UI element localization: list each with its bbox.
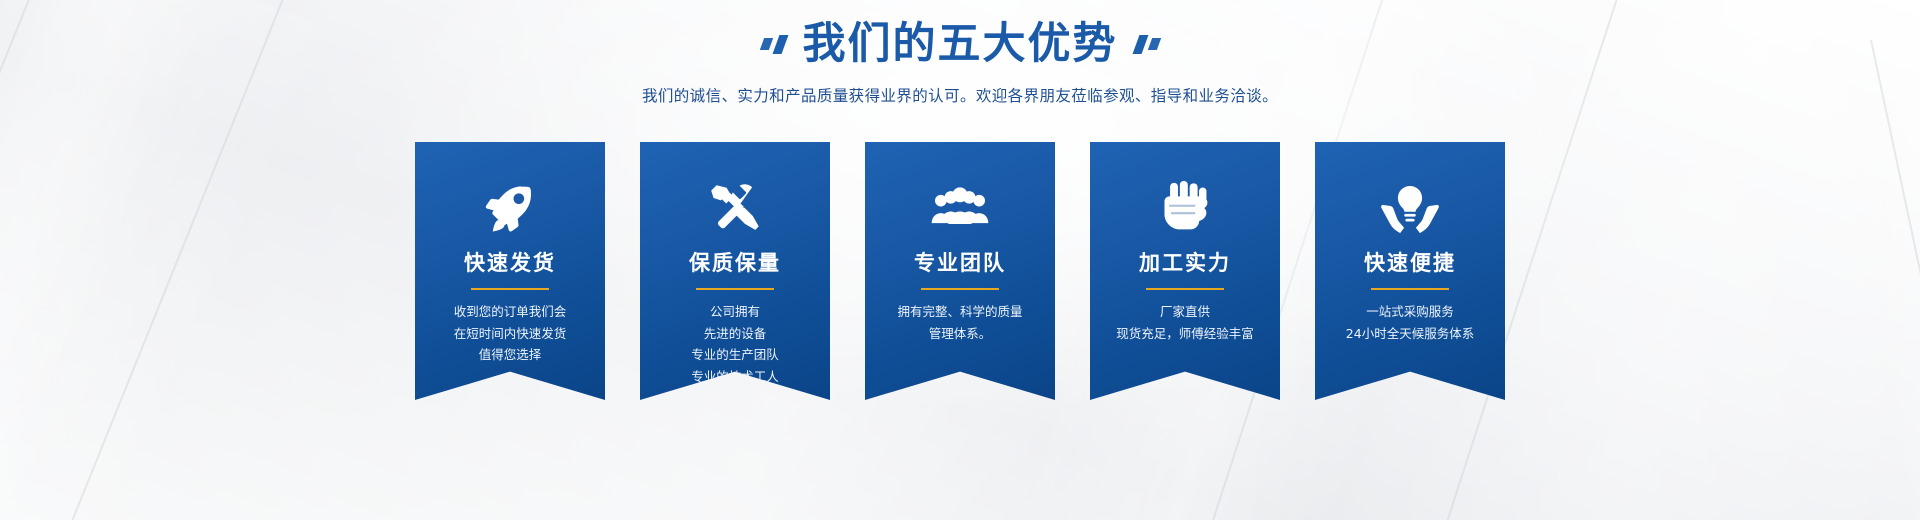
title-row: 我们的五大优势 — [0, 18, 1920, 70]
advantage-card-title: 加工实力 — [1139, 252, 1231, 275]
description-line: 专业的技术工人 — [691, 366, 779, 388]
description-line: 在短时间内快速发货 — [454, 323, 567, 345]
description-line: 24小时全天候服务体系 — [1346, 323, 1474, 345]
description-line: 专业的生产团队 — [691, 344, 779, 366]
advantage-card-list: 快速发货 收到您的订单我们会 在短时间内快速发货 值得您选择 保质保量 公司拥有… — [0, 142, 1920, 400]
card-divider — [1146, 288, 1224, 290]
card-divider — [1371, 288, 1449, 290]
advantage-card-description: 收到您的订单我们会 在短时间内快速发货 值得您选择 — [448, 301, 573, 366]
advantage-card-description: 公司拥有 先进的设备 专业的生产团队 专业的技术工人 — [685, 301, 785, 387]
card-divider — [696, 288, 774, 290]
slash-ornament-left-icon — [762, 35, 785, 54]
advantage-card-quality-guarantee[interactable]: 保质保量 公司拥有 先进的设备 专业的生产团队 专业的技术工人 — [640, 142, 830, 400]
advantage-card-description: 厂家直供 现货充足，师傅经验丰富 — [1110, 301, 1260, 344]
description-line: 拥有完整、科学的质量 — [897, 301, 1022, 323]
advantage-card-professional-team[interactable]: 专业团队 拥有完整、科学的质量 管理体系。 — [865, 142, 1055, 400]
page-subtitle: 我们的诚信、实力和产品质量获得业界的认可。欢迎各界朋友莅临参观、指导和业务洽谈。 — [0, 84, 1920, 106]
description-line: 先进的设备 — [691, 323, 779, 345]
slash-ornament-right-icon — [1136, 35, 1159, 54]
description-line: 现货充足，师傅经验丰富 — [1116, 323, 1254, 345]
advantage-card-description: 一站式采购服务 24小时全天候服务体系 — [1340, 301, 1480, 344]
advantage-card-description: 拥有完整、科学的质量 管理体系。 — [891, 301, 1028, 344]
description-line: 厂家直供 — [1116, 301, 1254, 323]
team-people-icon — [930, 180, 990, 238]
card-divider — [921, 288, 999, 290]
advantage-card-title: 保质保量 — [689, 252, 781, 275]
card-divider — [471, 288, 549, 290]
section-header: 我们的五大优势 我们的诚信、实力和产品质量获得业界的认可。欢迎各界朋友莅临参观、… — [0, 18, 1920, 106]
tools-wrench-screwdriver-icon — [705, 180, 765, 238]
advantage-card-title: 专业团队 — [914, 252, 1006, 275]
description-line: 公司拥有 — [691, 301, 779, 323]
description-line: 管理体系。 — [897, 323, 1022, 345]
advantage-card-title: 快速便捷 — [1364, 252, 1456, 275]
advantage-card-title: 快速发货 — [464, 252, 556, 275]
advantage-card-fast-convenient[interactable]: 快速便捷 一站式采购服务 24小时全天候服务体系 — [1315, 142, 1505, 400]
hands-lightbulb-icon — [1380, 180, 1440, 238]
description-line: 一站式采购服务 — [1346, 301, 1474, 323]
fist-strength-icon — [1155, 180, 1215, 238]
advantage-card-fast-shipping[interactable]: 快速发货 收到您的订单我们会 在短时间内快速发货 值得您选择 — [415, 142, 605, 400]
page-title: 我们的五大优势 — [803, 23, 1118, 66]
description-line: 值得您选择 — [454, 344, 567, 366]
description-line: 收到您的订单我们会 — [454, 301, 567, 323]
advantage-card-processing-strength[interactable]: 加工实力 厂家直供 现货充足，师傅经验丰富 — [1090, 142, 1280, 400]
rocket-icon — [480, 180, 540, 238]
